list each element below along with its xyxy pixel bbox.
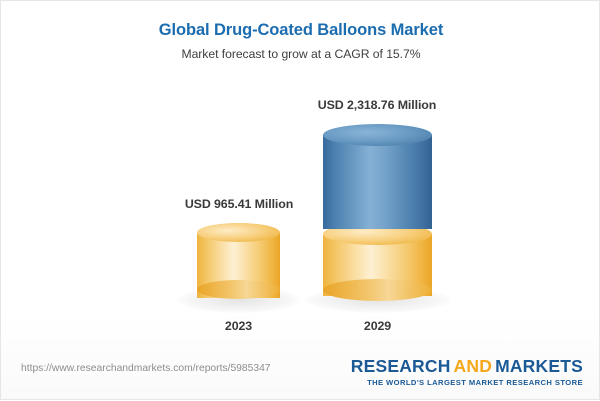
bar-2029[interactable]	[323, 124, 432, 303]
logo-word-markets: MARKETS	[495, 356, 583, 376]
bar-2023-top-ellipse	[197, 223, 280, 242]
bar-2029-value-label: USD 2,318.76 Million	[297, 98, 457, 112]
bar-2029-top-ellipse	[323, 124, 432, 146]
bar-2029-bottom-ellipse	[323, 279, 432, 301]
plot-area: USD 965.41 Million 2023 USD 2,318.76 Mil…	[1, 1, 600, 401]
bar-2023[interactable]	[197, 223, 280, 303]
bar-2029-top-body	[323, 135, 432, 229]
chart-footer: https://www.researchandmarkets.com/repor…	[1, 349, 600, 399]
logo-tagline: THE WORLD'S LARGEST MARKET RESEARCH STOR…	[351, 377, 583, 388]
logo-word-and: AND	[454, 356, 493, 376]
logo-word-research: RESEARCH	[351, 356, 451, 376]
bar-2029-top-segment	[323, 124, 432, 240]
research-and-markets-logo[interactable]: RESEARCHANDMARKETS THE WORLD'S LARGEST M…	[351, 357, 583, 388]
chart-canvas: Global Drug-Coated Balloons Market Marke…	[0, 0, 600, 400]
bar-2023-category-label: 2023	[197, 319, 280, 333]
bar-2023-cylinder	[197, 223, 280, 303]
report-url[interactable]: https://www.researchandmarkets.com/repor…	[21, 363, 271, 374]
bar-2023-bottom-ellipse	[197, 280, 280, 299]
bar-2023-value-label: USD 965.41 Million	[159, 197, 319, 211]
bar-2029-category-label: 2029	[323, 319, 432, 333]
logo-wordmark: RESEARCHANDMARKETS	[351, 357, 583, 376]
